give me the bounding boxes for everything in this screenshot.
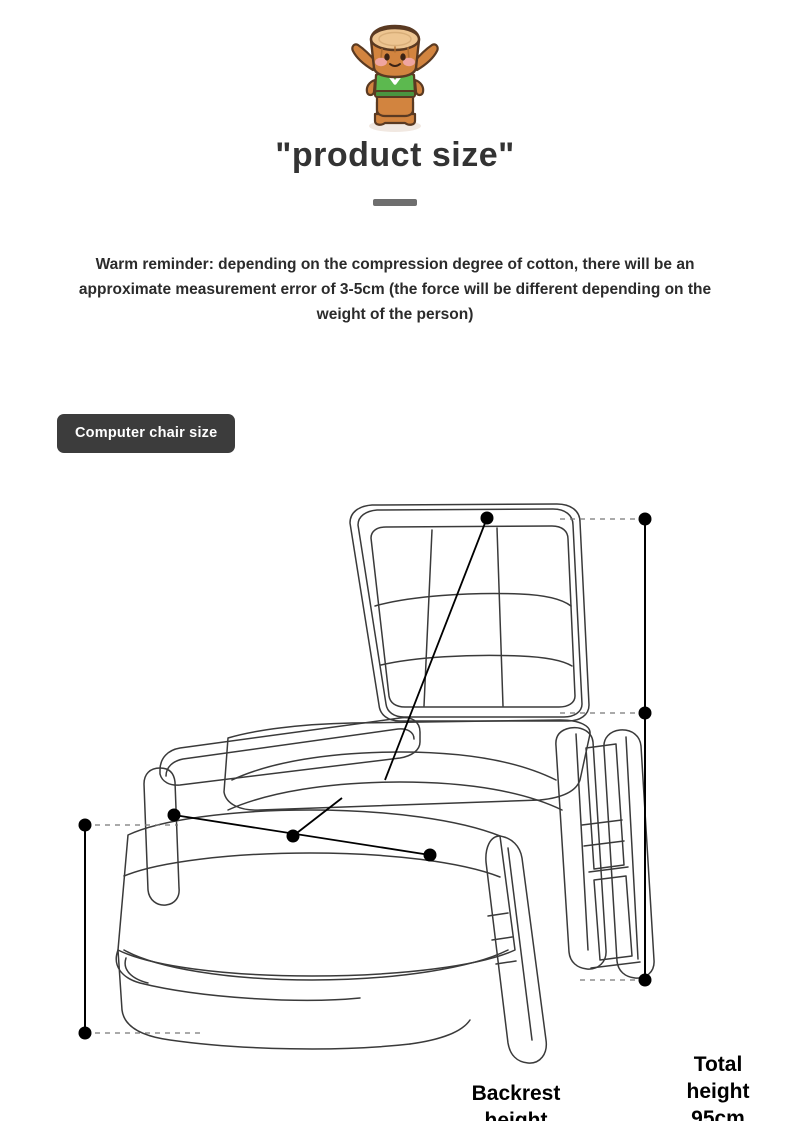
page-title: "product size" (0, 136, 790, 175)
dimension-lines (79, 512, 652, 1040)
dimension-label-backrest-height: Backrest height 50cm (452, 1081, 580, 1121)
product-size-infographic: "product size" Warm reminder: depending … (0, 0, 790, 1121)
mascot-illustration (345, 18, 445, 133)
chair-dimension-diagram: Total height 95cm Armrest height 60cm Ba… (0, 480, 790, 1080)
dimension-label-total-height: Total height 95cm (658, 1052, 778, 1121)
section-badge-computer-chair-size: Computer chair size (57, 414, 235, 453)
chair-line-drawing (0, 480, 790, 1080)
title-divider (373, 199, 417, 206)
warm-reminder-text: Warm reminder: depending on the compress… (55, 252, 735, 327)
wooden-tree-character-icon (345, 18, 445, 133)
